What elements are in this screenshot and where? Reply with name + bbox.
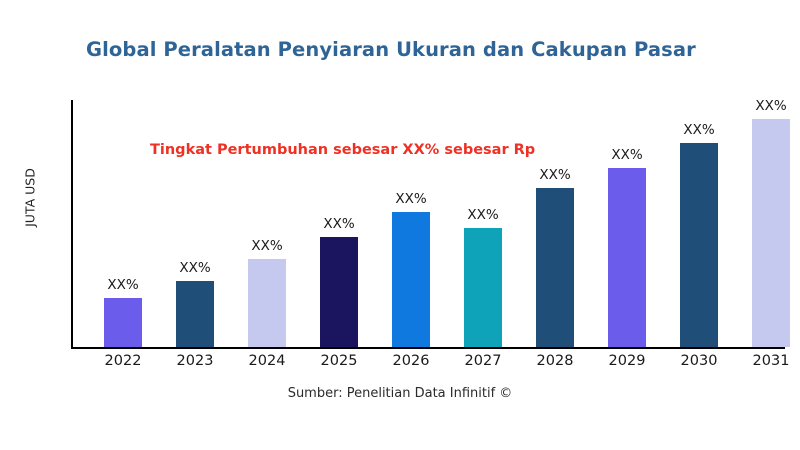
bar-value-label-2031: XX% (755, 98, 786, 114)
bar-rect-2029[interactable] (608, 168, 646, 347)
x-tick-label-2022: 2022 (93, 353, 153, 369)
bar-rect-2025[interactable] (320, 237, 358, 347)
bar-value-label-2024: XX% (251, 238, 282, 254)
x-tick-label-2023: 2023 (165, 353, 225, 369)
bar-rect-2027[interactable] (464, 228, 502, 347)
bar-value-label-2026: XX% (395, 191, 426, 207)
bar-value-label-2029: XX% (611, 147, 642, 163)
bar-2027[interactable]: XX% (464, 228, 502, 347)
bar-2031[interactable]: XX% (752, 119, 790, 347)
bar-2025[interactable]: XX% (320, 237, 358, 347)
bar-rect-2031[interactable] (752, 119, 790, 347)
x-tick-label-2028: 2028 (525, 353, 585, 369)
bar-value-label-2027: XX% (467, 207, 498, 223)
x-tick-label-2026: 2026 (381, 353, 441, 369)
bar-value-label-2028: XX% (539, 167, 570, 183)
chart-figure: Global Peralatan Penyiaran Ukuran dan Ca… (0, 0, 800, 450)
bar-2029[interactable]: XX% (608, 168, 646, 347)
bar-2026[interactable]: XX% (392, 212, 430, 347)
x-tick-label-2029: 2029 (597, 353, 657, 369)
bar-rect-2028[interactable] (536, 188, 574, 347)
bar-2028[interactable]: XX% (536, 188, 574, 347)
bar-rect-2024[interactable] (248, 259, 286, 347)
x-tick-label-2031: 2031 (741, 353, 800, 369)
bar-rect-2022[interactable] (104, 298, 142, 347)
bar-rect-2026[interactable] (392, 212, 430, 347)
bar-2030[interactable]: XX% (680, 143, 718, 347)
bar-value-label-2023: XX% (179, 260, 210, 276)
x-tick-label-2030: 2030 (669, 353, 729, 369)
bar-value-label-2025: XX% (323, 216, 354, 232)
bar-2023[interactable]: XX% (176, 281, 214, 347)
x-tick-label-2027: 2027 (453, 353, 513, 369)
bar-2024[interactable]: XX% (248, 259, 286, 347)
bar-value-label-2022: XX% (107, 277, 138, 293)
plot-area: XX%2022XX%2023XX%2024XX%2025XX%2026XX%20… (0, 0, 800, 450)
source-note: Sumber: Penelitian Data Infinitif © (0, 386, 800, 401)
bar-value-label-2030: XX% (683, 122, 714, 138)
x-tick-label-2025: 2025 (309, 353, 369, 369)
bar-rect-2030[interactable] (680, 143, 718, 347)
x-tick-label-2024: 2024 (237, 353, 297, 369)
bar-rect-2023[interactable] (176, 281, 214, 347)
bar-2022[interactable]: XX% (104, 298, 142, 347)
